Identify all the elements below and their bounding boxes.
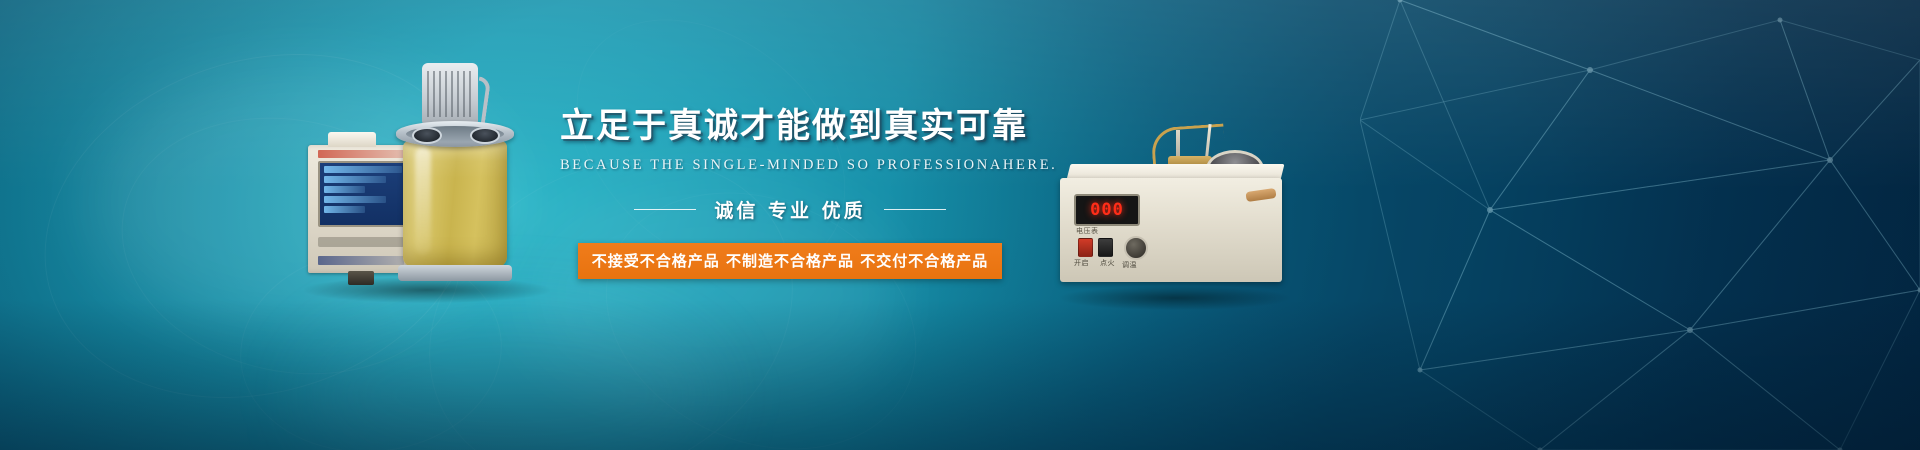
tester-shadow	[1060, 286, 1290, 310]
banner-text-block: 立足于真诚才能做到真实可靠 BECAUSE THE SINGLE-MINDED …	[560, 108, 1020, 279]
tagline-rule-right	[884, 209, 946, 210]
viscometer-screen-row	[324, 186, 365, 193]
banner-headline: 立足于真诚才能做到真实可靠	[560, 108, 1020, 145]
viscometer-jar-highlight	[415, 147, 431, 255]
tester-switch-label-ignite: 点火	[1100, 258, 1115, 268]
promo-banner: 000 电压表 开启 点火 调温 立足于真诚才能做到真实可靠 BECAUSE T…	[0, 0, 1920, 450]
tester-knob-label: 调温	[1122, 260, 1137, 270]
viscometer-port-left	[412, 127, 442, 144]
viscometer-stirrer-motor	[422, 63, 478, 125]
viscometer-oil-bath	[396, 121, 514, 273]
viscometer-screen-row	[324, 166, 402, 173]
viscometer-title-strip	[318, 150, 404, 158]
quality-policy-bar: 不接受不合格产品 不制造不合格产品 不交付不合格产品	[578, 243, 1002, 279]
viscometer-jar-base	[398, 265, 512, 281]
viscometer-screen-row	[324, 206, 365, 213]
tester-digital-display: 000	[1074, 194, 1140, 226]
viscometer-screen-row	[324, 196, 386, 203]
tagline-rule-left	[634, 209, 696, 210]
viscometer-button-row	[318, 237, 404, 247]
viscometer-glass-jar	[403, 141, 507, 267]
flash-point-tester-image: 000 电压表 开启 点火 调温	[1060, 120, 1290, 300]
tester-display-value: 000	[1090, 200, 1124, 220]
viscometer-console-cap	[328, 132, 376, 147]
banner-tagline-row: 诚信 专业 优质	[560, 196, 1020, 223]
banner-subline-english: BECAUSE THE SINGLE-MINDED SO PROFESSIONA…	[560, 157, 1020, 174]
banner-tagline: 诚信 专业 优质	[714, 196, 865, 223]
viscometer-port-right	[470, 127, 500, 144]
viscometer-instrument-image	[300, 55, 550, 295]
tester-ignite-switch[interactable]	[1098, 238, 1113, 257]
viscometer-base-knob	[348, 271, 374, 285]
viscometer-brand-strip	[318, 256, 404, 265]
tester-temperature-knob[interactable]	[1124, 236, 1148, 260]
tester-switch-label-power: 开启	[1074, 258, 1089, 268]
viscometer-screen	[318, 161, 408, 227]
tester-power-switch[interactable]	[1078, 238, 1093, 257]
tester-display-label: 电压表	[1076, 226, 1099, 236]
viscometer-screen-row	[324, 176, 386, 183]
